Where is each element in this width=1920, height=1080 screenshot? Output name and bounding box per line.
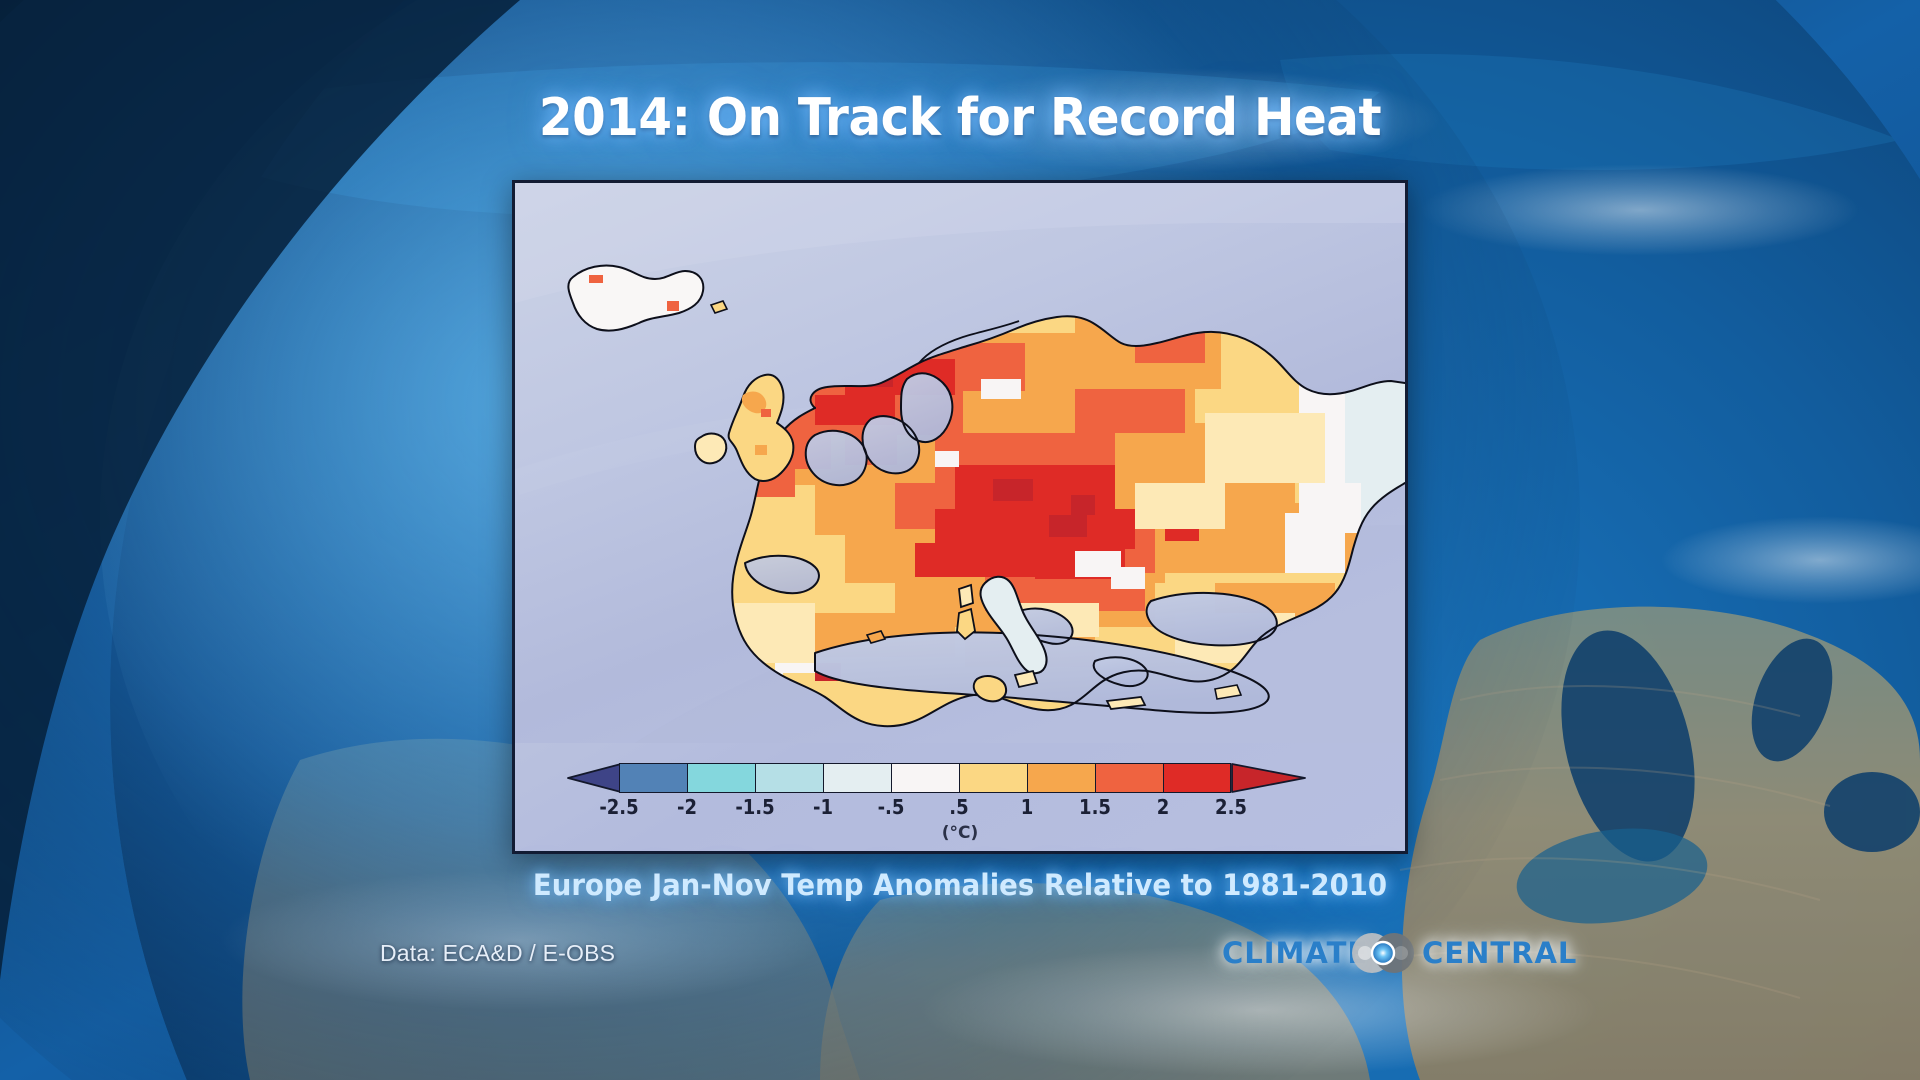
- colorbar-tick: 2: [1136, 795, 1190, 819]
- logo-word-central: CENTRAL: [1422, 936, 1577, 970]
- colorbar-tick: -2.5: [592, 795, 646, 819]
- map-subtitle: Europe Jan-Nov Temp Anomalies Relative t…: [48, 868, 1872, 902]
- colorbar-segment: [959, 763, 1027, 793]
- colorbar-max-arrow: [1231, 763, 1287, 793]
- temperature-anomaly-map: [515, 183, 1405, 743]
- colorbar-segment: [619, 763, 687, 793]
- colorbar-segment: [891, 763, 959, 793]
- colorbar-tick: -.5: [864, 795, 918, 819]
- interlocking-circles-icon: [1346, 927, 1420, 979]
- colorbar-tick-labels: -2.5 -2 -1.5 -1 -.5 .5 1 1.5 2 2.5: [515, 795, 1405, 821]
- anomaly-map-svg: [515, 183, 1405, 743]
- colorbar-tick: 1.5: [1068, 795, 1122, 819]
- colorbar: -2.5 -2 -1.5 -1 -.5 .5 1 1.5 2 2.5 (°C): [515, 743, 1405, 851]
- colorbar-segment: [1163, 763, 1231, 793]
- colorbar-tick: -2: [660, 795, 714, 819]
- colorbar-tick: -1.5: [728, 795, 782, 819]
- island-ireland: [695, 434, 726, 464]
- colorbar-tick: 2.5: [1204, 795, 1258, 819]
- climate-central-logo[interactable]: CLIMATE CENTRAL: [1222, 930, 1542, 978]
- colorbar-min-arrow: [567, 763, 623, 793]
- page-title: 2014: On Track for Record Heat: [67, 88, 1853, 148]
- map-panel: -2.5 -2 -1.5 -1 -.5 .5 1 1.5 2 2.5 (°C): [512, 180, 1408, 854]
- data-source-credit: Data: ECA&D / E-OBS: [380, 940, 615, 967]
- colorbar-segment: [1095, 763, 1163, 793]
- colorbar-tick: 1: [1000, 795, 1054, 819]
- colorbar-segment: [755, 763, 823, 793]
- colorbar-segment: [1027, 763, 1095, 793]
- colorbar-tick: .5: [932, 795, 986, 819]
- colorbar-segment: [823, 763, 891, 793]
- colorbar-segments: [619, 763, 1231, 793]
- colorbar-units-label: (°C): [515, 823, 1405, 843]
- colorbar-segment: [687, 763, 755, 793]
- colorbar-tick: -1: [796, 795, 850, 819]
